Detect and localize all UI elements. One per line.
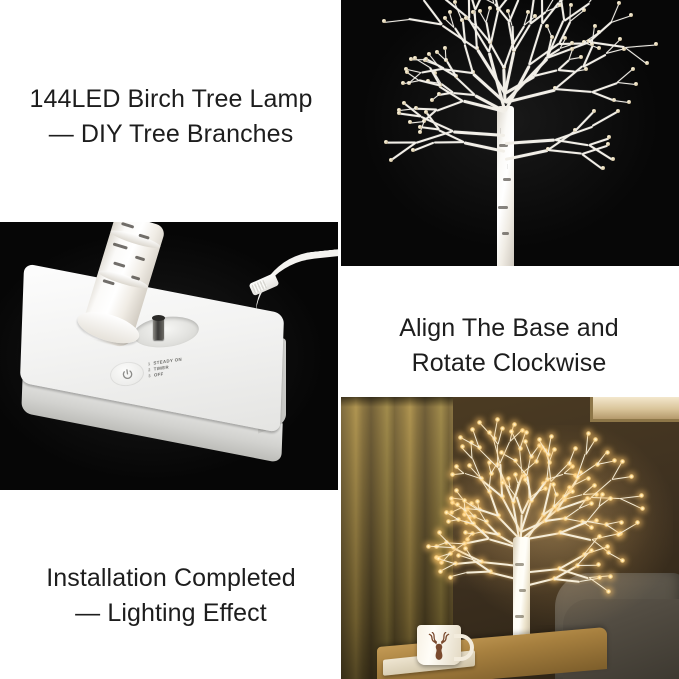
led-light (454, 464, 459, 469)
branch-bud (430, 98, 434, 102)
led-light (470, 427, 475, 432)
led-light (597, 534, 602, 539)
led-light (426, 544, 431, 549)
caption-effect-line2: — Lighting Effect (75, 596, 267, 632)
led-light (592, 483, 597, 488)
branch-bud (601, 166, 605, 170)
led-light (495, 417, 500, 422)
led-light (458, 435, 463, 440)
caption-align-instruction: Align The Base and Rotate Clockwise (346, 292, 672, 400)
branch-bud (592, 109, 596, 113)
branch-bud (627, 100, 631, 104)
led-light (512, 422, 517, 427)
branch-bud (593, 24, 597, 28)
tree-trunk (497, 106, 514, 266)
deer-icon (426, 632, 452, 660)
photo-room-scene (341, 397, 679, 679)
mode-number: 1 (148, 361, 151, 366)
led-light (524, 430, 529, 435)
branch-bud (545, 24, 549, 28)
led-light (629, 474, 634, 479)
led-light (586, 476, 591, 481)
branch-bud (418, 125, 422, 129)
led-light (619, 520, 624, 525)
curtain-rod-shadow (341, 397, 453, 407)
led-light (551, 482, 556, 487)
branch-bud (569, 3, 573, 7)
branch-bud (478, 9, 482, 13)
led-light (640, 506, 645, 511)
led-light (449, 496, 454, 501)
branch-bud (597, 46, 601, 50)
led-light (537, 437, 542, 442)
lit-tree-trunk (513, 537, 530, 647)
branch-bud (401, 81, 405, 85)
infographic-sheet: 144LED Birch Tree Lamp — DIY Tree Branch… (0, 0, 679, 679)
caption-lighting-effect: Installation Completed — Lighting Effect (8, 542, 334, 650)
branch-bud (629, 13, 633, 17)
wall-picture-frame (590, 397, 679, 422)
caption-effect-line1: Installation Completed (46, 561, 296, 597)
led-light (455, 502, 460, 507)
branch-bud (611, 157, 615, 161)
led-light (585, 496, 590, 501)
branch-bud (526, 10, 530, 14)
led-light (593, 437, 598, 442)
branch-bud (579, 55, 583, 59)
caption-title-line2: — DIY Tree Branches (49, 117, 294, 153)
photo-base-assembly: 1STEADY ON2TIMER3OFF (0, 222, 338, 490)
mode-number: 2 (148, 367, 151, 372)
led-light (589, 501, 594, 506)
branch-bud (622, 47, 626, 51)
branch (386, 142, 417, 144)
socket-center-pin (153, 318, 164, 340)
mode-number: 3 (148, 373, 151, 378)
led-light (506, 476, 511, 481)
branch (577, 564, 598, 565)
led-light (460, 444, 465, 449)
caption-title-line1: 144LED Birch Tree Lamp (30, 82, 313, 118)
branch-bud (654, 42, 658, 46)
led-light (467, 463, 472, 468)
branch-bud (411, 148, 415, 152)
led-light (573, 446, 578, 451)
led-light (605, 450, 610, 455)
branch-bud (645, 61, 649, 65)
led-light (456, 553, 461, 558)
led-light (438, 569, 443, 574)
led-light (620, 558, 625, 563)
caption-align-line2: Rotate Clockwise (412, 346, 607, 382)
led-light (487, 430, 492, 435)
branch-bud (435, 50, 439, 54)
branch (468, 0, 470, 19)
branch-bud (443, 16, 447, 20)
branch-bud (584, 67, 588, 71)
led-light (589, 525, 594, 530)
led-light (589, 548, 594, 553)
branch-bud (389, 158, 393, 162)
branch-bud (402, 101, 406, 105)
power-icon (120, 367, 135, 382)
led-light (448, 575, 453, 580)
branch-bud (606, 142, 610, 146)
caption-product-title: 144LED Birch Tree Lamp — DIY Tree Branch… (8, 62, 334, 172)
led-light (513, 472, 518, 477)
led-light (444, 510, 449, 515)
branch-bud (506, 9, 510, 13)
led-light (437, 530, 442, 535)
led-light (570, 489, 575, 494)
branch-bud (384, 140, 388, 144)
caption-align-line1: Align The Base and (399, 311, 619, 347)
branch-bud (409, 57, 413, 61)
coffee-mug (417, 625, 461, 665)
led-light (586, 431, 591, 436)
branch-bud (448, 10, 452, 14)
led-light (608, 574, 613, 579)
photo-birch-tree-unlit (341, 0, 679, 266)
branch-bud (397, 111, 401, 115)
led-light (446, 519, 451, 524)
